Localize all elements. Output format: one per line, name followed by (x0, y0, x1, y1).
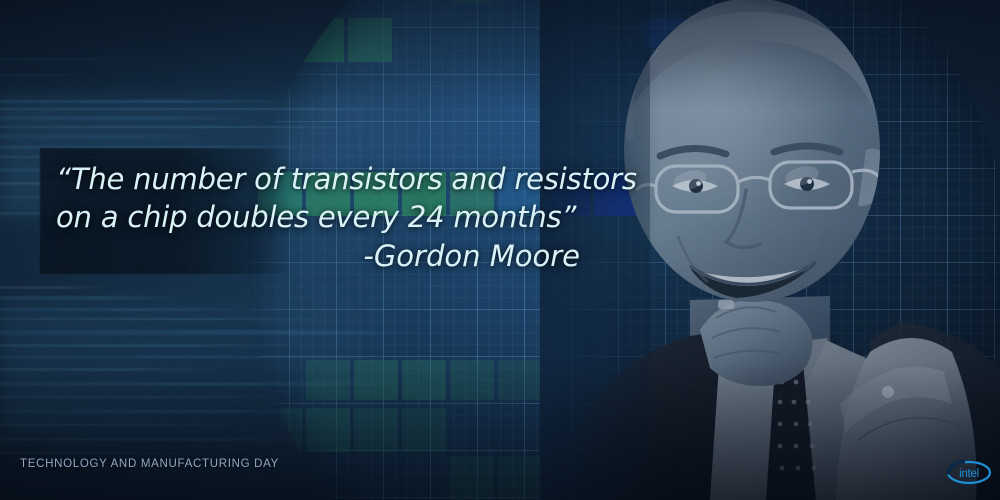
quote-line-1: “The number of transistors and resistors (56, 160, 596, 198)
quote-attribution: -Gordon Moore (56, 236, 596, 276)
quote-line-2: on a chip doubles every 24 months” (56, 198, 596, 236)
moore-quote-banner: “The number of transistors and resistors… (0, 0, 1000, 500)
intel-logo[interactable]: intel (946, 458, 992, 488)
svg-text:intel: intel (959, 468, 979, 480)
event-caption: TECHNOLOGY AND MANUFACTURING DAY (20, 458, 279, 470)
quote-block: “The number of transistors and resistors… (56, 160, 596, 276)
